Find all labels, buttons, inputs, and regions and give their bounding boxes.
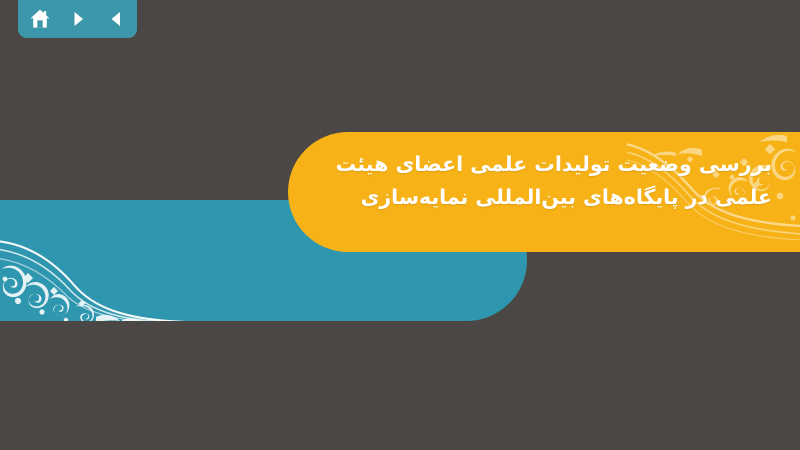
arabesque-ornament-teal <box>0 227 186 321</box>
triangle-right-icon <box>68 9 88 29</box>
previous-slide-button[interactable] <box>104 7 128 31</box>
page-title-line-1: بررسی وضعیت تولیدات علمی اعضای هیئت <box>328 148 772 181</box>
title-banner: بررسی وضعیت تولیدات علمی اعضای هیئت علمی… <box>288 132 800 252</box>
triangle-left-icon <box>106 9 126 29</box>
slide-navigation-bar <box>18 0 137 38</box>
presentation-slide: بررسی وضعیت تولیدات علمی اعضای هیئت علمی… <box>0 0 800 450</box>
next-slide-button[interactable] <box>66 7 90 31</box>
home-slide-button[interactable] <box>28 7 52 31</box>
page-title: بررسی وضعیت تولیدات علمی اعضای هیئت علمی… <box>328 148 772 214</box>
page-title-line-2: علمی در پایگاه‌های بین‌المللی نمایه‌سازی <box>328 181 772 214</box>
home-icon <box>29 8 51 30</box>
